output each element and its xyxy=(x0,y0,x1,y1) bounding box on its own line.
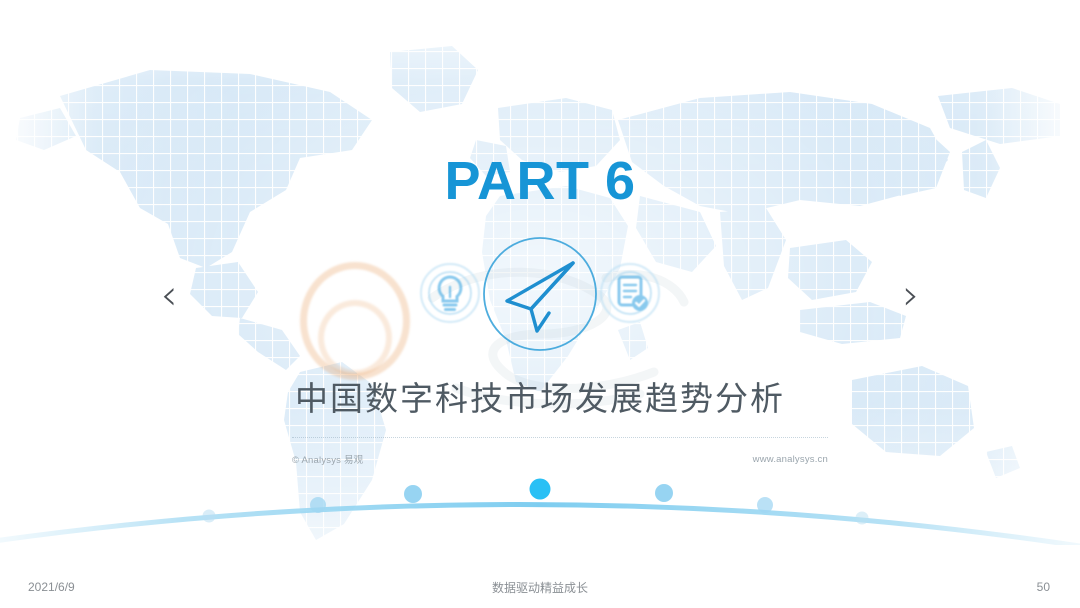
paper-plane-icon xyxy=(481,235,599,353)
watermark-ring-inner xyxy=(318,300,392,376)
progress-dot[interactable] xyxy=(203,510,216,523)
website-label: www.analysys.cn xyxy=(753,454,828,465)
progress-dot[interactable] xyxy=(530,479,551,500)
copyright-label: © Analysys 易观 xyxy=(292,452,363,466)
prev-arrow-icon[interactable]: ‹ xyxy=(146,272,192,320)
document-check-icon xyxy=(598,261,662,325)
slide-canvas: PART 6 xyxy=(0,0,1080,608)
slide-footer: 2021/6/9 数据驱动精益成长 50 xyxy=(0,566,1080,608)
lightbulb-icon xyxy=(418,261,482,325)
footer-tagline: 数据驱动精益成长 xyxy=(0,579,1080,596)
icon-cluster xyxy=(410,235,670,357)
progress-dot[interactable] xyxy=(757,497,773,513)
progress-dot[interactable] xyxy=(310,497,326,513)
progress-arc xyxy=(0,455,1080,545)
part-title: PART 6 xyxy=(0,150,1080,212)
source-line: © Analysys 易观 www.analysys.cn xyxy=(292,452,828,466)
footer-page-number: 50 xyxy=(1037,580,1050,594)
next-arrow-icon[interactable]: › xyxy=(888,272,934,320)
progress-dot[interactable] xyxy=(404,485,422,503)
page-title: 中国数字科技市场发展趋势分析 xyxy=(0,372,1080,420)
divider xyxy=(292,437,828,438)
progress-dot[interactable] xyxy=(655,484,673,502)
progress-dot[interactable] xyxy=(856,512,869,525)
